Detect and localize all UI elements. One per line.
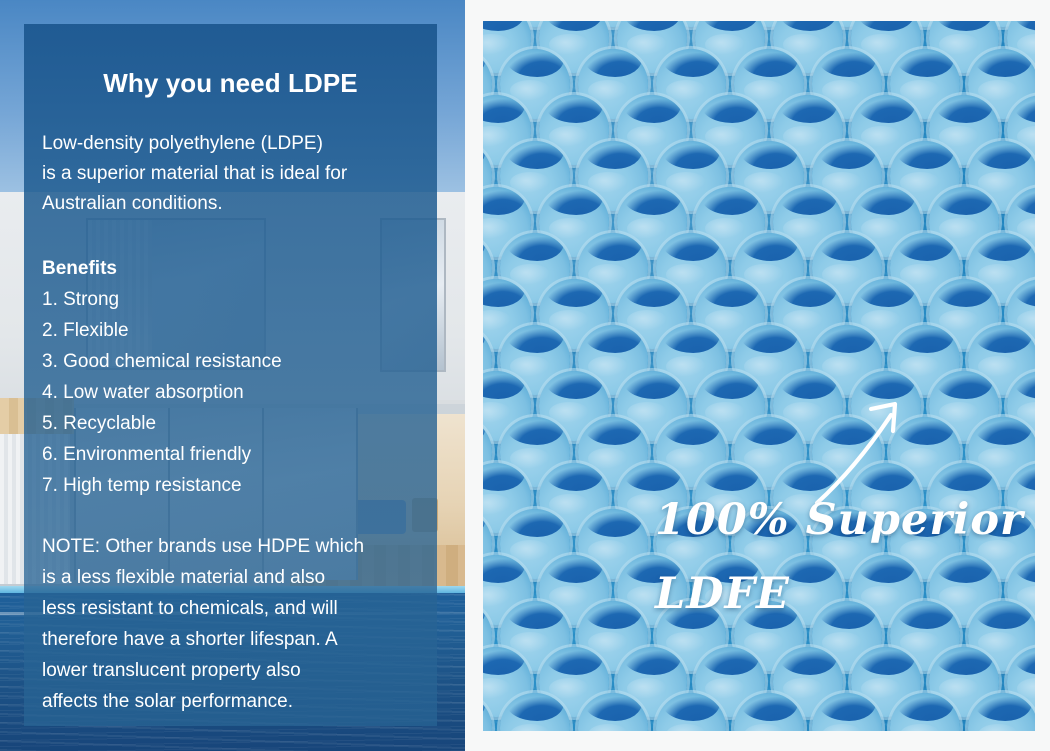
list-item: 4. Low water absorption	[42, 377, 419, 408]
bubble	[890, 693, 960, 731]
list-item: 2. Flexible	[42, 315, 419, 346]
bubble	[812, 693, 882, 731]
intro-line: Low-density polyethylene (LDPE)	[42, 129, 419, 159]
intro-paragraph: Low-density polyethylene (LDPE) is a sup…	[42, 129, 419, 219]
bubble	[578, 693, 648, 731]
bubble-cover-photo: 100% Superior LDFE	[483, 21, 1035, 731]
intro-line: Australian conditions.	[42, 189, 419, 219]
note-line: therefore have a shorter lifespan. A	[42, 624, 419, 655]
bubble	[734, 693, 804, 731]
curved-arrow-icon	[813, 379, 923, 509]
note-line: affects the solar performance.	[42, 686, 419, 717]
list-item: 1. Strong	[42, 284, 419, 315]
note-line: less resistant to chemicals, and will	[42, 593, 419, 624]
bubble	[500, 693, 570, 731]
note-line: NOTE: Other brands use HDPE which	[42, 531, 419, 562]
annotation-line-2: LDFE	[655, 569, 790, 619]
list-item: 3. Good chemical resistance	[42, 346, 419, 377]
bubble	[656, 693, 726, 731]
note-line: is a less flexible material and also	[42, 562, 419, 593]
intro-line: is a superior material that is ideal for	[42, 159, 419, 189]
note-paragraph: NOTE: Other brands use HDPE which is a l…	[42, 531, 419, 717]
note-line: lower translucent property also	[42, 655, 419, 686]
annotation-line-1: 100% Superior	[655, 495, 1024, 545]
page-title: Why you need LDPE	[42, 68, 419, 99]
left-panel: Why you need LDPE Low-density polyethyle…	[0, 0, 465, 751]
list-item: 7. High temp resistance	[42, 470, 419, 501]
list-item: 5. Recyclable	[42, 408, 419, 439]
bubble	[968, 693, 1035, 731]
benefits-list: 1. Strong 2. Flexible 3. Good chemical r…	[42, 284, 419, 501]
benefits-heading: Benefits	[42, 253, 419, 284]
ldpe-info-card: Why you need LDPE Low-density polyethyle…	[24, 24, 437, 726]
list-item: 6. Environmental friendly	[42, 439, 419, 470]
